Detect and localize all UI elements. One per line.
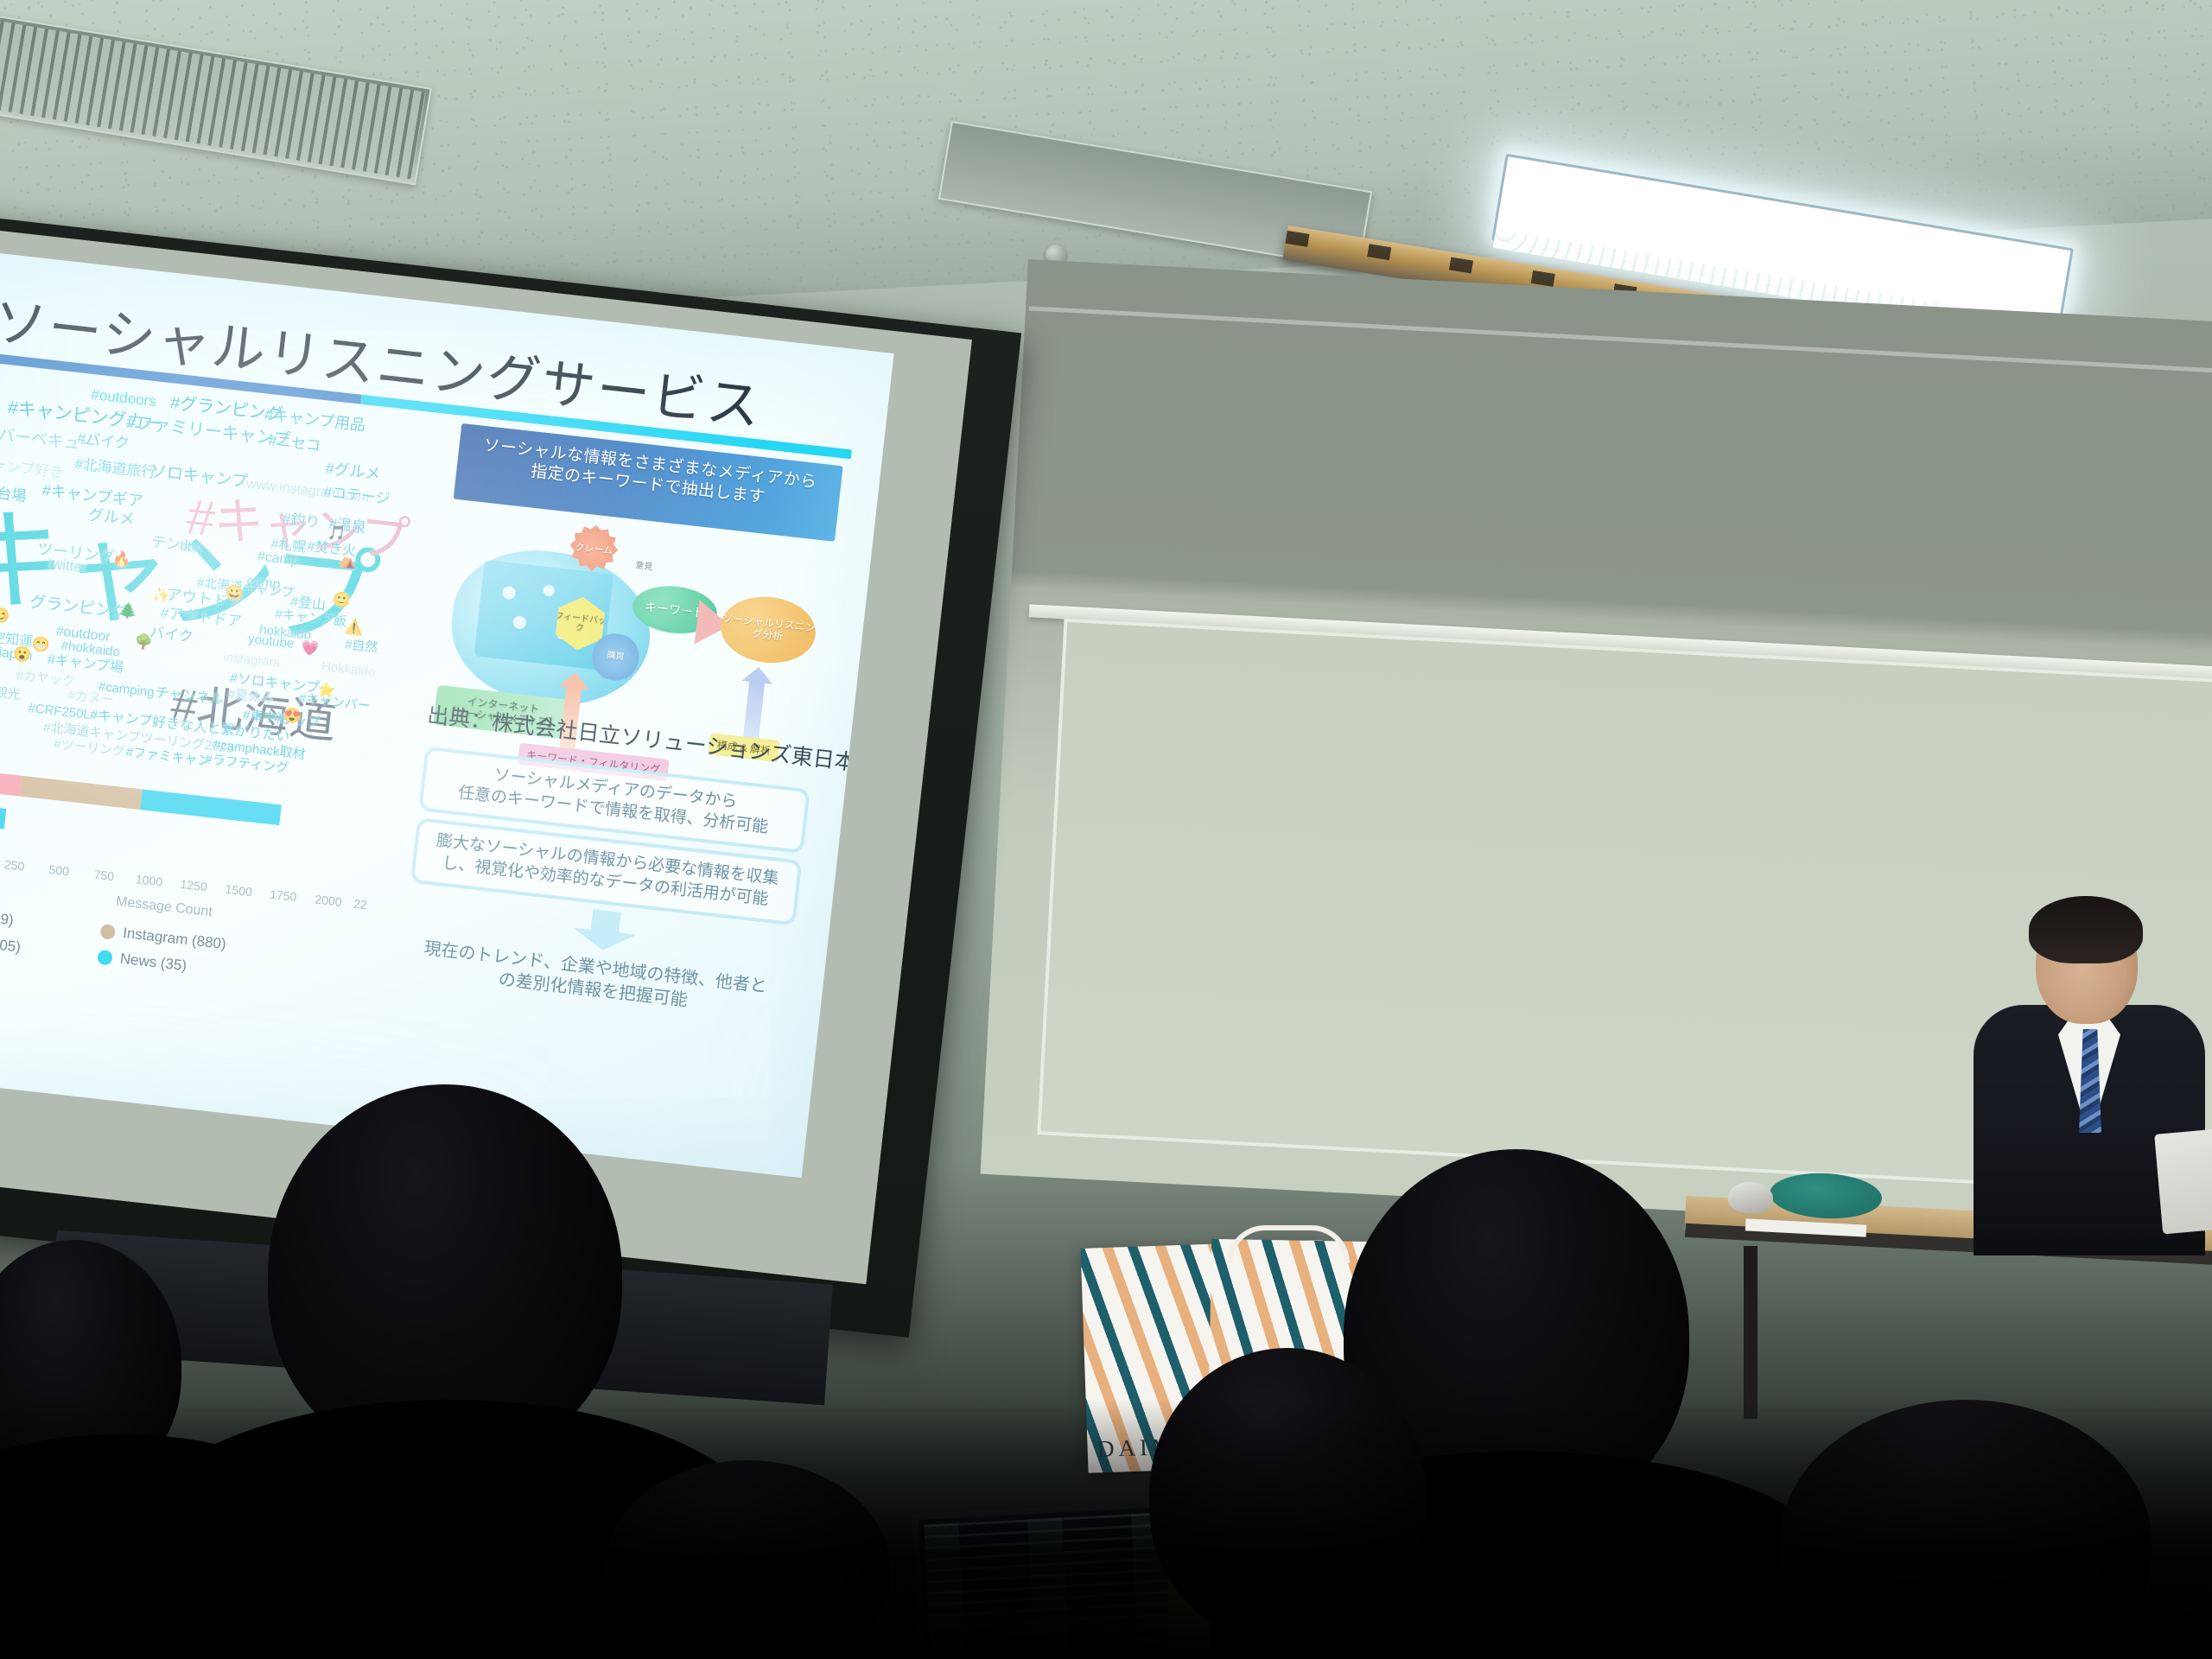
equipment-led-icon [594,1448,606,1456]
bag-handle [1227,1225,1350,1263]
paper-shopping-bag [1208,1239,1427,1459]
projection-screen: ソーシャルリスニングサービス キャンプ #キャンプ #北海道 #outdoors… [0,212,1021,1338]
wordcloud-term: bbq [180,540,203,556]
emoji-smile-icon: 😀 [225,585,245,601]
x-tick: 22 [353,896,367,912]
wordcloud-term: ソロキャンプ [149,463,249,491]
x-tick: 2000 [315,892,343,908]
equipment-led-icon [553,1445,564,1452]
screen-surface: ソーシャルリスニングサービス キャンプ #キャンプ #北海道 #outdoors… [0,225,972,1284]
emoji-smile-icon: 🙂 [332,592,352,608]
x-tick: 1500 [225,882,253,899]
wordcloud-term: #ニセコ [268,433,321,454]
legend-swatch [97,949,113,965]
emoji-face-icon: 😍 [283,708,302,724]
slide-right-panel: ソーシャルな情報をさまざまなメディアから 指定のキーワードで抽出します クレーム… [428,423,866,776]
presenter-laptop [2154,1125,2212,1235]
wordcloud-term: #カヌー [67,689,115,707]
wordcloud-term: #outdoors [91,387,157,409]
wordcloud-term: #同台場 [0,484,27,505]
wordcloud-term: #カヤック [16,669,76,689]
wordcloud-term: #キャンプ好き [0,455,65,480]
bar-segment-instagram [20,776,143,810]
wordcloud-term: #コテージ [323,485,391,506]
node-social-listening: ソーシャルリスニング分析 [717,592,819,668]
audience-shoulders [1676,1581,2212,1659]
bar-segment-twitter [0,806,6,829]
wordcloud-term: #北海道旅行 [74,456,157,480]
wordcloud-term: #グルメ [325,461,382,482]
emoji-tent-icon: ⛺ [338,552,358,569]
audience-shoulders [130,1400,769,1659]
emoji-star-icon: ⭐ [316,682,336,698]
emoji-face-icon: 😮 [13,646,33,663]
x-tick: 250 [3,857,25,874]
x-tick: 1750 [270,887,298,904]
emoji-warning-icon: ⚠️ [344,619,364,635]
wordcloud-term: #自然 [344,638,378,654]
legend-label: News (35) [119,950,188,976]
lecture-room-scene: ソーシャルリスニングサービス キャンプ #キャンプ #北海道 #outdoors… [0,0,2212,1659]
emoji-fire-icon: 🔥 [112,551,132,568]
emoji-tree-icon: 🌲 [118,602,138,619]
emoji-face-icon: 😊 [0,607,10,624]
down-arrow-icon [571,907,639,954]
wordcloud-term: バイク [149,625,194,645]
conclusion-text: 現在のトレンド、企業や地域の特徴、他者と の差別化情報を把握可能 [399,935,789,1023]
laptop-screen [918,1499,1319,1659]
bar-segment-twitter [140,789,282,825]
wordcloud-term: #北海道観光 [0,681,21,702]
audience-laptop [912,1493,1326,1659]
bar-row-glamping [0,805,6,829]
x-tick: 1250 [180,877,208,893]
wordcloud-term: twitter [47,556,87,575]
audience-head [1780,1400,2152,1659]
wordcloud-term: Hokkaido [321,660,376,679]
presenter [1979,903,2195,1249]
presentation-slide: ソーシャルリスニングサービス キャンプ #キャンプ #北海道 #outdoors… [0,250,894,1178]
emoji-grin-icon: 😁 [31,636,51,652]
wordcloud-term: instagram [223,651,281,670]
word-cloud: キャンプ #キャンプ #北海道 #outdoors #グランピング #キャンプ用… [0,372,453,786]
emoji-music-icon: 🎵 [327,524,347,541]
arrow-up-analysis-icon [743,680,766,742]
drink-bottle [1168,1547,1222,1659]
x-tick: 750 [93,868,115,884]
bar-segment-youtube [0,772,22,797]
wordcloud-term: #釣り [282,512,321,531]
audience-head [605,1460,890,1659]
bag-logo-text: DAIMA [1096,1433,1198,1463]
emoji-tree-icon: 🌳 [134,633,154,650]
legend-label: Youtube (205) [0,929,22,957]
x-tick: 1000 [135,872,163,888]
label-opinion: 意見 [635,557,654,572]
emoji-heart-icon: 💗 [300,640,320,657]
emoji-sparkle-icon: ✨ [151,587,171,603]
wordcloud-term: #CRF250L [28,702,92,721]
audience-shoulders [0,1434,363,1659]
table-leg [1744,1246,1758,1419]
x-tick: 500 [48,862,70,879]
bar-row-camp [0,771,282,825]
presenter-hair [2029,896,2143,963]
legend-swatch [99,924,116,940]
